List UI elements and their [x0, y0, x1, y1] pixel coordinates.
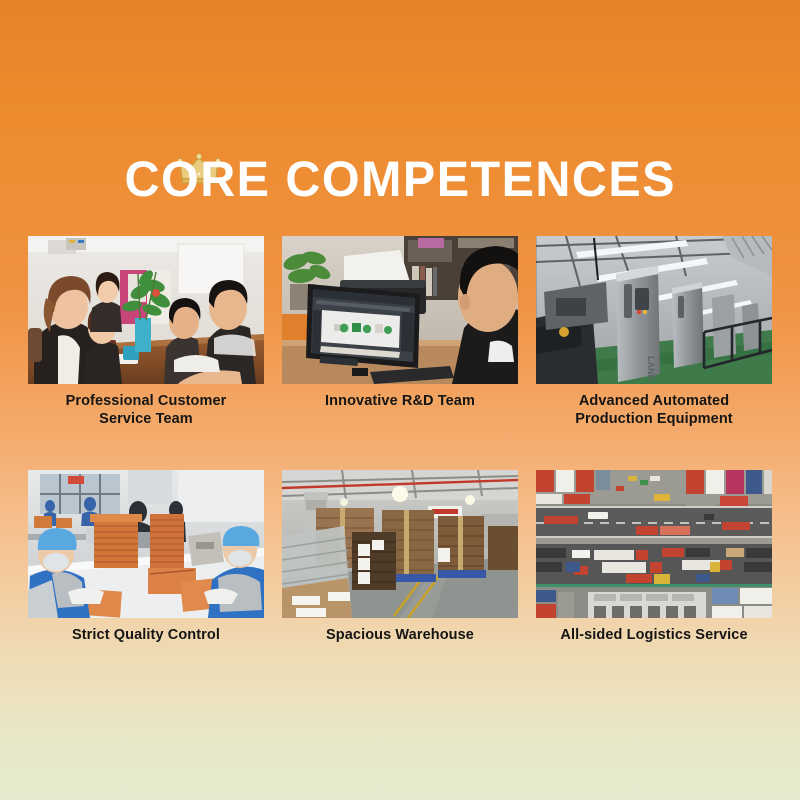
warehouse-pallets-photo[interactable] — [282, 470, 518, 618]
card-all-sided-logistics-service[interactable]: All-sided Logistics Service — [536, 470, 772, 644]
competences-grid: Professional Customer Service Team — [28, 236, 772, 644]
card-professional-customer-service-team[interactable]: Professional Customer Service Team — [28, 236, 264, 428]
card-caption: Strict Quality Control — [28, 626, 264, 644]
card-spacious-warehouse[interactable]: Spacious Warehouse — [282, 470, 518, 644]
card-caption: Advanced Automated Production Equipment — [536, 392, 772, 428]
card-innovative-rd-team[interactable]: Innovative R&D Team — [282, 236, 518, 428]
card-strict-quality-control[interactable]: Strict Quality Control — [28, 470, 264, 644]
title-block: CORE COMPETENCES — [0, 150, 800, 208]
card-caption: Innovative R&D Team — [282, 392, 518, 410]
card-caption: Spacious Warehouse — [282, 626, 518, 644]
designer-at-monitor-photo[interactable] — [282, 236, 518, 384]
core-competences-banner: CORE COMPETENCES — [0, 0, 800, 800]
printing-press-hall-photo[interactable]: LAND 800 — [536, 236, 772, 384]
container-yard-aerial-photo[interactable] — [536, 470, 772, 618]
card-caption: All-sided Logistics Service — [536, 626, 772, 644]
card-caption: Professional Customer Service Team — [28, 392, 264, 428]
card-advanced-automated-production-equipment[interactable]: LAND 800 — [536, 236, 772, 428]
page-title: CORE COMPETENCES — [124, 150, 675, 208]
meeting-room-photo[interactable] — [28, 236, 264, 384]
svg-text:LAND 800: LAND 800 — [646, 356, 656, 384]
quality-inspection-photo[interactable] — [28, 470, 264, 618]
